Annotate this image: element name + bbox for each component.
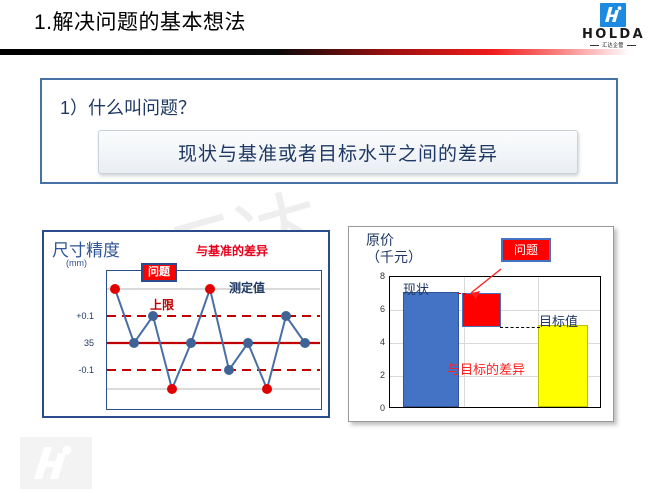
logo-wordmark: HOLDA <box>582 28 644 42</box>
chart-right-annotation-gap: 与目标的差异 <box>447 359 525 378</box>
logo-subtitle-text: 汇达企管 <box>602 41 624 49</box>
logo-rule-left <box>590 45 599 46</box>
chart-right-title: 原价 <box>366 232 422 249</box>
question-number-label: 1）什么叫问题？ <box>60 94 196 120</box>
chart-left-annotation-measured: 测定值 <box>229 279 265 296</box>
chart-original-cost: 原价 （千元） 8 6 4 2 0 现状 目标值 <box>348 226 614 422</box>
logo-subtitle: 汇达企管 <box>582 42 644 49</box>
gap-difference-box <box>462 293 501 327</box>
chart-left-plot-area <box>106 270 322 410</box>
chart-right-ytick-6: 6 <box>369 304 385 314</box>
chart-right-ytick-4: 4 <box>369 337 385 347</box>
answer-text: 现状与基准或者目标水平之间的差异 <box>178 139 498 166</box>
chart-left-ref-label-center: 35 <box>58 338 94 348</box>
leader-line-target <box>500 327 540 328</box>
chart-right-label-current: 现状 <box>403 279 429 298</box>
chart-left-ylabel: (mm) <box>66 258 87 268</box>
chart-right-ytick-2: 2 <box>369 370 385 380</box>
logo-mark-icon <box>600 3 626 27</box>
chart-dimension-accuracy: 尺寸精度 (mm) +0.1 35 -0.1 <box>42 230 330 418</box>
watermark-logo-icon <box>20 437 92 489</box>
logo-rule-right <box>627 45 636 46</box>
chart-right-ylabel: （千元） <box>366 249 422 266</box>
chart-right-ytick-8: 8 <box>369 271 385 281</box>
question-panel: 1）什么叫问题？ 现状与基准或者目标水平之间的差异 <box>40 78 618 184</box>
bar-current-state <box>403 292 459 407</box>
chart-left-annotation-base-diff: 与基准的差异 <box>196 242 268 259</box>
bar-target-value <box>538 325 588 407</box>
answer-callout-box: 现状与基准或者目标水平之间的差异 <box>98 130 578 174</box>
chart-right-title-block: 原价 （千元） <box>366 232 422 266</box>
holda-logo: HOLDA 汇达企管 <box>582 3 644 49</box>
chart-right-tag-problem: 问题 <box>501 238 551 262</box>
slide-canvas: 1.解决问题的基本想法 HOLDA 汇达企管 汇达 1）什么叫问题？ <box>0 0 660 492</box>
leader-line-current <box>458 293 466 294</box>
chart-right-label-target: 目标值 <box>539 311 578 330</box>
chart-left-tag-problem: 问题 <box>141 263 177 282</box>
header-divider-bar <box>0 49 630 55</box>
chart-right-ytick-0: 0 <box>369 403 385 413</box>
page-title: 1.解决问题的基本想法 <box>34 6 246 36</box>
chart-left-ref-label-upper: +0.1 <box>58 311 94 321</box>
chart-left-ref-label-lower: -0.1 <box>58 365 94 375</box>
chart-left-annotation-upper-limit: 上限 <box>150 296 174 313</box>
